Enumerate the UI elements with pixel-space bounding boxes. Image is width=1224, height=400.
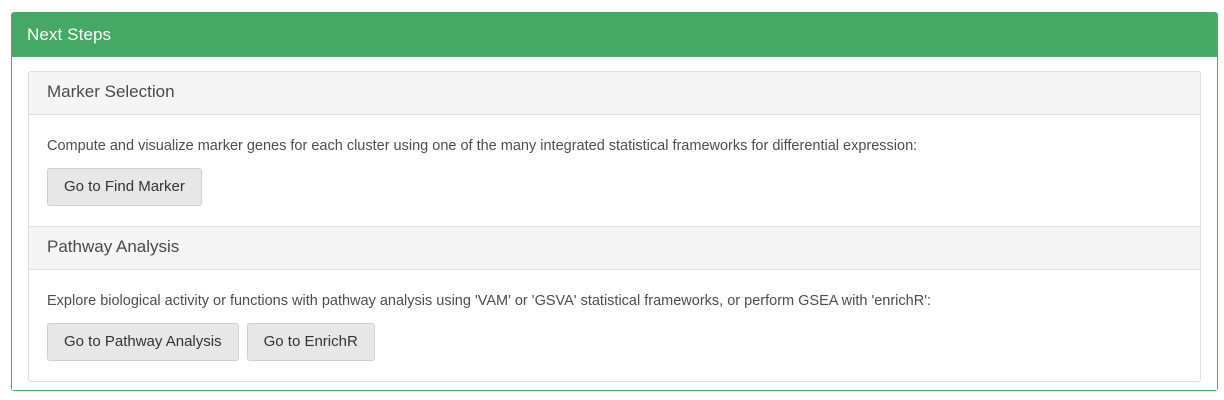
next-steps-sections-panel: Marker Selection Compute and visualize m…: [28, 71, 1201, 382]
panel-header: Next Steps: [12, 13, 1217, 57]
go-to-enrichr-button[interactable]: Go to EnrichR: [247, 323, 375, 361]
go-to-pathway-analysis-button[interactable]: Go to Pathway Analysis: [47, 323, 239, 361]
section-body-pathway-analysis: Explore biological activity or functions…: [29, 270, 1200, 381]
section-description-pathway-analysis: Explore biological activity or functions…: [47, 292, 1182, 311]
go-to-find-marker-button[interactable]: Go to Find Marker: [47, 168, 202, 206]
screen-root: Next Steps Marker Selection Compute and …: [0, 0, 1224, 400]
section-marker-selection: Marker Selection Compute and visualize m…: [29, 72, 1200, 226]
button-row-marker-selection: Go to Find Marker: [47, 168, 1182, 206]
section-title-marker-selection: Marker Selection: [47, 82, 175, 101]
section-pathway-analysis: Pathway Analysis Explore biological acti…: [29, 226, 1200, 381]
section-description-marker-selection: Compute and visualize marker genes for e…: [47, 137, 1182, 156]
section-body-marker-selection: Compute and visualize marker genes for e…: [29, 115, 1200, 226]
section-title-pathway-analysis: Pathway Analysis: [47, 237, 179, 256]
section-header-marker-selection: Marker Selection: [29, 72, 1200, 115]
section-header-pathway-analysis: Pathway Analysis: [29, 226, 1200, 270]
panel-body: Marker Selection Compute and visualize m…: [12, 57, 1217, 390]
button-row-pathway-analysis: Go to Pathway Analysis Go to EnrichR: [47, 323, 1182, 361]
page-title: Next Steps: [27, 26, 111, 43]
next-steps-panel: Next Steps Marker Selection Compute and …: [11, 12, 1218, 391]
